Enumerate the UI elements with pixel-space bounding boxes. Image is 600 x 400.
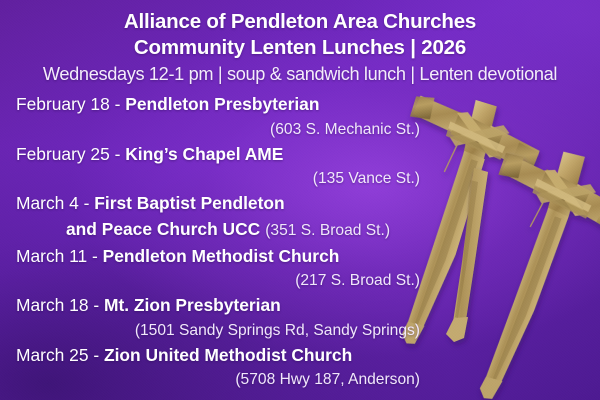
entry-headline: March 4 - First Baptist Pendleton	[0, 191, 430, 217]
poster-subtitle: Wednesdays 12-1 pm | soup & sandwich lun…	[0, 62, 600, 87]
poster-header: Alliance of Pendleton Area Churches Comm…	[0, 0, 600, 87]
title-line-2: Community Lenten Lunches | 2026	[0, 35, 600, 61]
schedule-entry: March 4 - First Baptist Pendleton and Pe…	[0, 191, 430, 243]
schedule-entry: March 11 - Pendleton Methodist Church (2…	[0, 244, 430, 293]
entry-headline: March 11 - Pendleton Methodist Church	[0, 244, 430, 270]
entry-address: (135 Vance St.)	[0, 167, 430, 190]
schedule-list: February 18 - Pendleton Presbyterian (60…	[0, 92, 430, 392]
schedule-entry: March 18 - Mt. Zion Presbyterian (1501 S…	[0, 293, 430, 342]
entry-address: (217 S. Broad St.)	[0, 269, 430, 292]
entry-date: March 18 -	[16, 295, 104, 315]
entry-headline-continued: and Peace Church UCC(351 S. Broad St.)	[0, 217, 430, 243]
entry-headline: February 18 - Pendleton Presbyterian	[0, 92, 430, 118]
entry-address: (351 S. Broad St.)	[265, 222, 390, 239]
entry-church-name: King’s Chapel AME	[125, 144, 283, 164]
entry-headline: March 18 - Mt. Zion Presbyterian	[0, 293, 430, 319]
entry-church-name: Mt. Zion Presbyterian	[104, 295, 281, 315]
entry-date: February 18 -	[16, 94, 125, 114]
entry-headline: February 25 - King’s Chapel AME	[0, 142, 430, 168]
entry-date: March 11 -	[16, 246, 103, 266]
entry-date: March 4 -	[16, 193, 94, 213]
entry-date: February 25 -	[16, 144, 125, 164]
entry-church-name: Pendleton Presbyterian	[125, 94, 319, 114]
schedule-entry: February 25 - King’s Chapel AME (135 Van…	[0, 142, 430, 191]
entry-date: March 25 -	[16, 345, 104, 365]
entry-address: (1501 Sandy Springs Rd, Sandy Springs)	[0, 319, 430, 342]
entry-church-name: Pendleton Methodist Church	[103, 246, 340, 266]
entry-headline: March 25 - Zion United Methodist Church	[0, 343, 430, 369]
entry-church-name: Zion United Methodist Church	[104, 345, 352, 365]
schedule-entry: March 25 - Zion United Methodist Church …	[0, 343, 430, 392]
schedule-entry: February 18 - Pendleton Presbyterian (60…	[0, 92, 430, 141]
entry-church-name: First Baptist Pendleton	[94, 193, 284, 213]
lenten-lunches-poster: Alliance of Pendleton Area Churches Comm…	[0, 0, 600, 400]
entry-church-name-continued: and Peace Church UCC	[66, 219, 260, 239]
title-line-1: Alliance of Pendleton Area Churches	[0, 9, 600, 35]
entry-address: (5708 Hwy 187, Anderson)	[0, 368, 430, 391]
entry-address: (603 S. Mechanic St.)	[0, 118, 430, 141]
